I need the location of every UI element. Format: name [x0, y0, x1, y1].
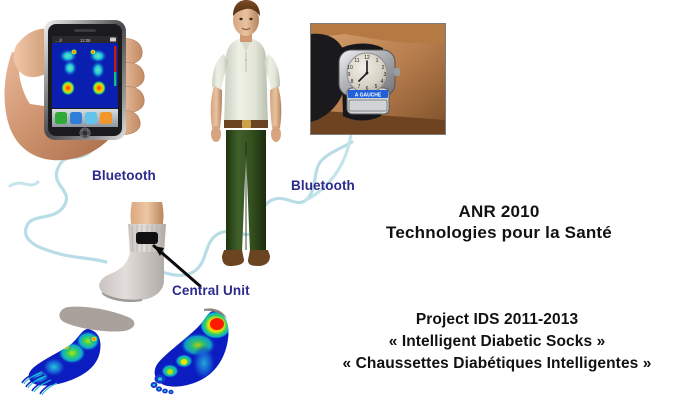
infographic-canvas: ....ll 12:06 [0, 0, 700, 400]
title-line-2: Technologies pour la Santé [300, 222, 698, 243]
svg-text:5: 5 [375, 84, 378, 90]
project-line-2: « Intelligent Diabetic Socks » [295, 331, 699, 353]
bluetooth-label-watch: Bluetooth [291, 178, 355, 193]
svg-text:12:06: 12:06 [80, 38, 91, 43]
svg-text:10: 10 [347, 65, 353, 71]
svg-text:1: 1 [376, 58, 379, 64]
project-line-3: « Chaussettes Diabétiques Intelligentes … [295, 353, 699, 375]
foot-map-right [138, 305, 248, 400]
smartwatch-photo: 12 1 2 3 4 5 6 7 8 9 10 11 A GAUCHE [310, 23, 446, 135]
project-line-1: Project IDS 2011-2013 [295, 309, 699, 331]
foot-map-left [18, 323, 118, 400]
svg-text:12: 12 [364, 55, 370, 61]
watch-lcd-text: A GAUCHE [355, 92, 382, 98]
svg-text:7: 7 [358, 84, 361, 90]
svg-text:2: 2 [382, 65, 385, 71]
foot-pressure-maps [18, 305, 248, 400]
central-unit-label: Central Unit [172, 283, 250, 298]
title-block: ANR 2010 Technologies pour la Santé [300, 202, 698, 243]
svg-text:8: 8 [351, 79, 354, 85]
svg-text:9: 9 [348, 72, 351, 78]
svg-text:....ll: ....ll [55, 38, 62, 43]
title-line-1: ANR 2010 [300, 202, 698, 222]
hand-holding-phone: ....ll 12:06 [0, 0, 190, 166]
svg-text:11: 11 [354, 58, 359, 64]
svg-text:4: 4 [381, 79, 384, 85]
project-block: Project IDS 2011-2013 « Intelligent Diab… [295, 309, 699, 375]
svg-text:3: 3 [384, 72, 387, 78]
bluetooth-label-phone: Bluetooth [92, 168, 156, 183]
smartphone: ....ll 12:06 [44, 20, 126, 140]
central-unit-module [136, 232, 158, 244]
